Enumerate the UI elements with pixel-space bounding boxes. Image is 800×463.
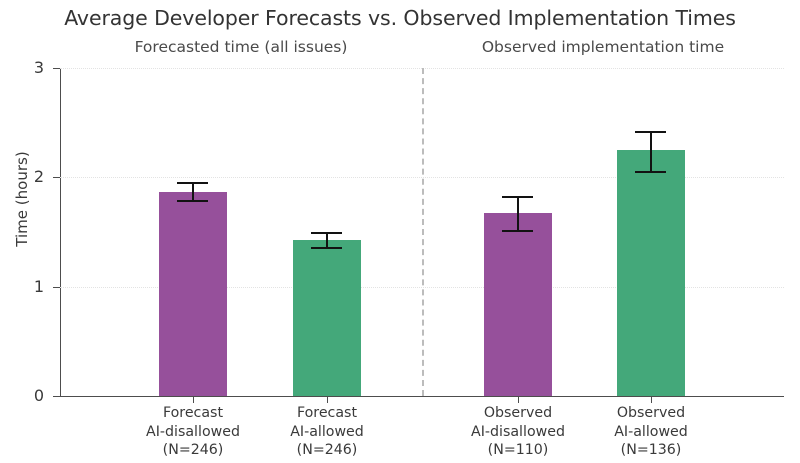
error-cap-top-observed-ai-disallowed xyxy=(502,196,533,198)
bar-observed-ai-allowed[interactable] xyxy=(617,150,685,396)
y-tick-mark-3 xyxy=(53,68,60,69)
error-cap-bottom-observed-ai-disallowed xyxy=(502,230,533,232)
x-tick-mark-1 xyxy=(327,396,328,403)
bar-forecast-ai-allowed[interactable] xyxy=(293,240,361,396)
y-tick-label-1: 1 xyxy=(14,277,44,296)
x-tick-mark-0 xyxy=(193,396,194,403)
x-tick-label-forecast-ai-allowed: Forecast AI-allowed (N=246) xyxy=(242,404,412,460)
error-cap-bottom-forecast-ai-disallowed xyxy=(177,200,208,202)
error-cap-top-forecast-ai-allowed xyxy=(311,232,342,234)
y-tick-label-3: 3 xyxy=(14,58,44,77)
y-tick-mark-1 xyxy=(53,287,60,288)
error-bar-observed-ai-allowed xyxy=(650,131,652,170)
panel-title-observed: Observed implementation time xyxy=(422,38,784,56)
error-cap-bottom-forecast-ai-allowed xyxy=(311,247,342,249)
y-tick-mark-2 xyxy=(53,177,60,178)
panel-title-forecasted: Forecasted time (all issues) xyxy=(60,38,422,56)
error-cap-top-forecast-ai-disallowed xyxy=(177,182,208,184)
bar-forecast-ai-disallowed[interactable] xyxy=(159,192,227,396)
x-tick-mark-3 xyxy=(651,396,652,403)
chart-title: Average Developer Forecasts vs. Observed… xyxy=(0,6,800,30)
error-cap-bottom-observed-ai-allowed xyxy=(635,171,666,173)
y-tick-label-0: 0 xyxy=(14,386,44,405)
x-tick-mark-2 xyxy=(518,396,519,403)
bar-observed-ai-disallowed[interactable] xyxy=(484,213,552,396)
error-cap-top-observed-ai-allowed xyxy=(635,131,666,133)
x-axis-line xyxy=(60,396,784,397)
error-bar-observed-ai-disallowed xyxy=(517,196,519,230)
bar-chart: Average Developer Forecasts vs. Observed… xyxy=(0,0,800,463)
error-bar-forecast-ai-disallowed xyxy=(192,182,194,201)
y-tick-mark-0 xyxy=(53,396,60,397)
error-bar-forecast-ai-allowed xyxy=(326,232,328,247)
y-tick-label-2: 2 xyxy=(14,167,44,186)
x-tick-label-observed-ai-allowed: Observed AI-allowed (N=136) xyxy=(566,404,736,460)
panel-divider xyxy=(422,68,424,396)
